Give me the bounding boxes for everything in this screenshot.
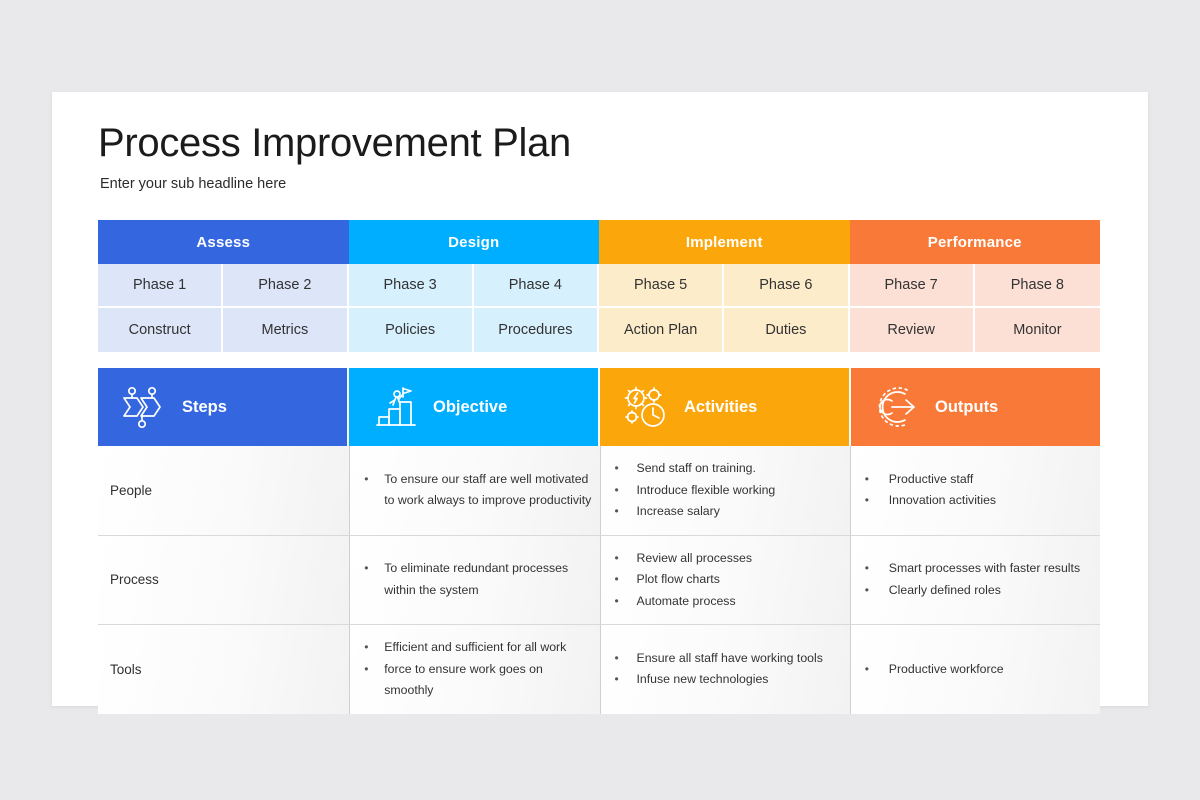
- phase-item-cell[interactable]: Duties: [724, 308, 849, 352]
- table-row: ToolsEfficient and sufficient for all wo…: [98, 625, 1100, 714]
- list-item: To ensure our staff are well motivated t…: [360, 469, 591, 512]
- list-item: force to ensure work goes on smoothly: [360, 659, 591, 702]
- main-table-header-row: StepsObjectiveActivitiesOutputs: [98, 368, 1100, 446]
- activities-cell[interactable]: Send staff on training.Introduce flexibl…: [601, 446, 851, 535]
- phase-group: AssessPhase 1ConstructPhase 2Metrics: [98, 220, 349, 352]
- phase-group-header: Performance: [850, 220, 1101, 264]
- outputs-cell[interactable]: Productive workforce: [851, 625, 1100, 714]
- list-item: Review all processes: [611, 548, 842, 570]
- phase-column: Phase 2Metrics: [223, 264, 348, 352]
- phase-number-cell[interactable]: Phase 2: [223, 264, 348, 308]
- column-header-label: Activities: [684, 398, 757, 417]
- outputs-list: Smart processes with faster resultsClear…: [861, 558, 1092, 601]
- phase-item-cell[interactable]: Review: [850, 308, 975, 352]
- phase-column: Phase 5Action Plan: [599, 264, 724, 352]
- phase-group: ImplementPhase 5Action PlanPhase 6Duties: [599, 220, 850, 352]
- column-header-activities[interactable]: Activities: [600, 368, 851, 446]
- phase-group-header: Design: [349, 220, 600, 264]
- step-cell[interactable]: Tools: [98, 625, 350, 714]
- list-item: To eliminate redundant processes within …: [360, 558, 591, 601]
- column-header-outputs[interactable]: Outputs: [851, 368, 1100, 446]
- phase-number-cell[interactable]: Phase 4: [474, 264, 599, 308]
- page-title: Process Improvement Plan: [98, 122, 1102, 164]
- outputs-list: Productive staffInnovation activities: [861, 469, 1092, 512]
- step-cell[interactable]: People: [98, 446, 350, 535]
- phase-item-cell[interactable]: Monitor: [975, 308, 1100, 352]
- activities-cell[interactable]: Ensure all staff have working toolsInfus…: [601, 625, 851, 714]
- phase-item-cell[interactable]: Metrics: [223, 308, 348, 352]
- list-item: Plot flow charts: [611, 569, 842, 591]
- phase-column: Phase 4Procedures: [474, 264, 599, 352]
- step-cell[interactable]: Process: [98, 536, 350, 625]
- list-item: Send staff on training.: [611, 458, 842, 480]
- flag-podium-icon: [365, 384, 427, 430]
- objective-cell[interactable]: Efficient and sufficient for all workfor…: [350, 625, 600, 714]
- column-header-label: Steps: [182, 398, 227, 417]
- phase-number-cell[interactable]: Phase 7: [850, 264, 975, 308]
- slide-card: Process Improvement Plan Enter your sub …: [52, 92, 1148, 706]
- objective-list: Efficient and sufficient for all workfor…: [360, 637, 591, 702]
- phase-number-cell[interactable]: Phase 3: [349, 264, 474, 308]
- column-header-steps[interactable]: Steps: [98, 368, 349, 446]
- objective-list: To ensure our staff are well motivated t…: [360, 469, 591, 512]
- list-item: Efficient and sufficient for all work: [360, 637, 591, 659]
- column-header-label: Outputs: [935, 398, 998, 417]
- step-label: Process: [110, 572, 341, 587]
- phase-item-cell[interactable]: Construct: [98, 308, 223, 352]
- phase-item-cell[interactable]: Action Plan: [599, 308, 724, 352]
- phase-group: PerformancePhase 7ReviewPhase 8Monitor: [850, 220, 1101, 352]
- list-item: Automate process: [611, 591, 842, 613]
- table-row: ProcessTo eliminate redundant processes …: [98, 536, 1100, 626]
- list-item: Infuse new technologies: [611, 669, 842, 691]
- main-table-body: PeopleTo ensure our staff are well motiv…: [98, 446, 1100, 714]
- list-item: Ensure all staff have working tools: [611, 648, 842, 670]
- process-flow-icon: [114, 384, 176, 430]
- objective-cell[interactable]: To ensure our staff are well motivated t…: [350, 446, 600, 535]
- table-row: PeopleTo ensure our staff are well motiv…: [98, 446, 1100, 536]
- outputs-cell[interactable]: Productive staffInnovation activities: [851, 446, 1100, 535]
- phase-item-cell[interactable]: Policies: [349, 308, 474, 352]
- column-header-objective[interactable]: Objective: [349, 368, 600, 446]
- phase-column: Phase 1Construct: [98, 264, 223, 352]
- column-header-label: Objective: [433, 398, 507, 417]
- phase-group-header: Implement: [599, 220, 850, 264]
- list-item: Productive staff: [861, 469, 1092, 491]
- phase-number-cell[interactable]: Phase 5: [599, 264, 724, 308]
- phase-column: Phase 3Policies: [349, 264, 474, 352]
- phase-item-cell[interactable]: Procedures: [474, 308, 599, 352]
- list-item: Introduce flexible working: [611, 480, 842, 502]
- step-label: People: [110, 483, 341, 498]
- phase-group-header: Assess: [98, 220, 349, 264]
- phase-column: Phase 8Monitor: [975, 264, 1100, 352]
- list-item: Clearly defined roles: [861, 580, 1092, 602]
- main-table: StepsObjectiveActivitiesOutputs PeopleTo…: [98, 368, 1100, 714]
- list-item: Innovation activities: [861, 490, 1092, 512]
- outputs-list: Productive workforce: [861, 659, 1092, 681]
- activities-list: Review all processesPlot flow chartsAuto…: [611, 548, 842, 613]
- list-item: Smart processes with faster results: [861, 558, 1092, 580]
- list-item: Increase salary: [611, 501, 842, 523]
- phase-table: AssessPhase 1ConstructPhase 2MetricsDesi…: [98, 220, 1100, 352]
- activities-list: Send staff on training.Introduce flexibl…: [611, 458, 842, 523]
- gear-arrow-icon: [867, 384, 929, 430]
- objective-cell[interactable]: To eliminate redundant processes within …: [350, 536, 600, 625]
- phase-column: Phase 6Duties: [724, 264, 849, 352]
- step-label: Tools: [110, 662, 341, 677]
- phase-number-cell[interactable]: Phase 8: [975, 264, 1100, 308]
- phase-group: DesignPhase 3PoliciesPhase 4Procedures: [349, 220, 600, 352]
- phase-number-cell[interactable]: Phase 1: [98, 264, 223, 308]
- list-item: Productive workforce: [861, 659, 1092, 681]
- phase-number-cell[interactable]: Phase 6: [724, 264, 849, 308]
- phase-column: Phase 7Review: [850, 264, 975, 352]
- gears-clock-icon: [616, 384, 678, 430]
- outputs-cell[interactable]: Smart processes with faster resultsClear…: [851, 536, 1100, 625]
- activities-list: Ensure all staff have working toolsInfus…: [611, 648, 842, 691]
- activities-cell[interactable]: Review all processesPlot flow chartsAuto…: [601, 536, 851, 625]
- objective-list: To eliminate redundant processes within …: [360, 558, 591, 601]
- page-subtitle: Enter your sub headline here: [100, 176, 1102, 192]
